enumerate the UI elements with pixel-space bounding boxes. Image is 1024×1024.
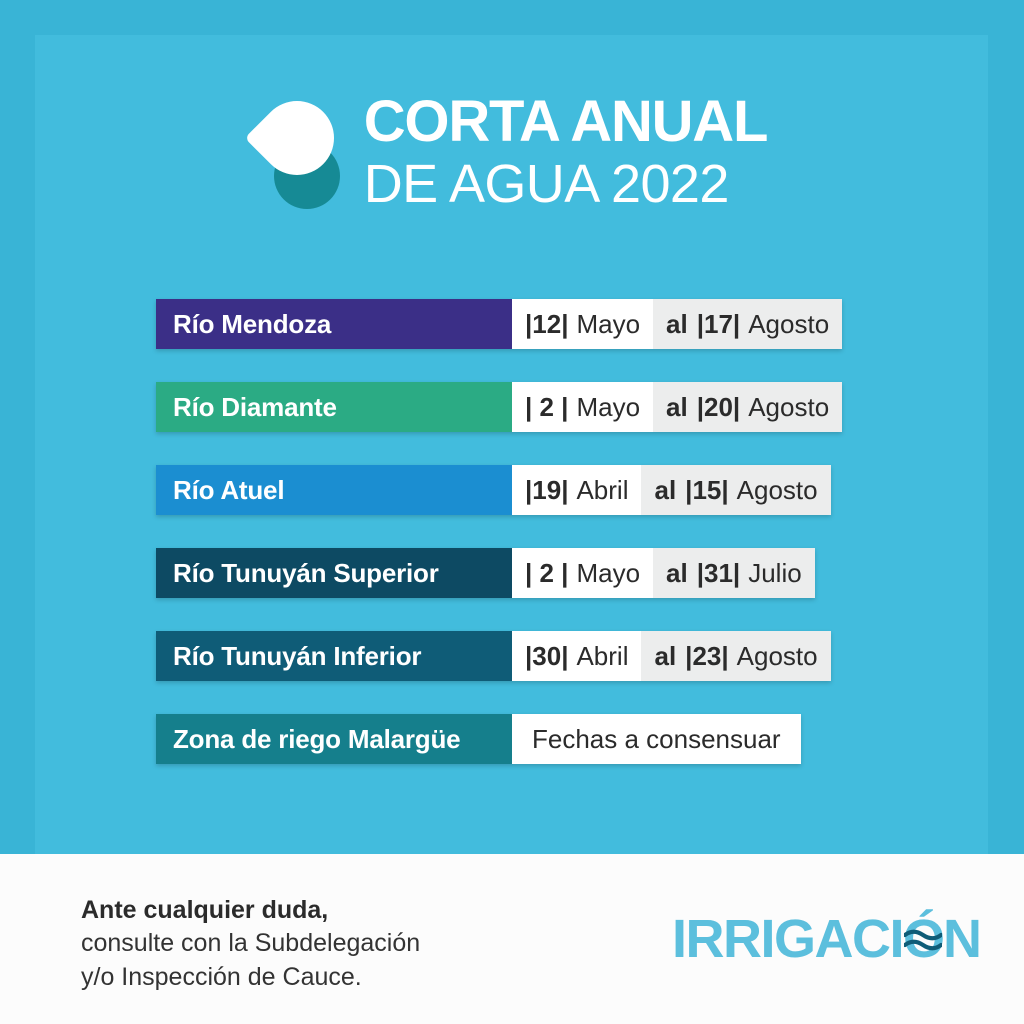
date-note-segment: Fechas a consensuar	[512, 714, 801, 764]
date-start-segment: |12| Mayo	[512, 299, 653, 349]
range-connector: al	[666, 558, 688, 589]
date-start-segment: |19| Abril	[512, 465, 641, 515]
date-end-segment: al |15| Agosto	[641, 465, 830, 515]
date-range: | 2 | Mayo al |20| Agosto	[512, 382, 842, 432]
start-month: Mayo	[576, 309, 640, 340]
logo-accent-letter-wrap: Ó	[903, 912, 943, 966]
poster-card: CORTA ANUAL DE AGUA 2022 Río Mendoza |12…	[35, 35, 988, 854]
footer: Ante cualquier duda, consulte con la Sub…	[0, 854, 1024, 1024]
table-row: Río Atuel |19| Abril al |15| Agosto	[156, 465, 916, 515]
logo-accent-letter: Ó	[903, 909, 944, 969]
water-droplet-icon	[256, 95, 342, 213]
title-line-primary: CORTA ANUAL	[364, 93, 767, 151]
logo-text-part2: N	[943, 912, 981, 966]
river-name-bar: Río Tunuyán Superior	[156, 548, 512, 598]
end-day: |15|	[685, 475, 728, 506]
date-range: |12| Mayo al |17| Agosto	[512, 299, 842, 349]
date-end-segment: al |31| Julio	[653, 548, 815, 598]
river-name-label: Zona de riego Malargüe	[173, 724, 460, 755]
river-name-label: Río Tunuyán Inferior	[173, 641, 421, 672]
end-month: Julio	[748, 558, 801, 589]
river-schedule-table: Río Mendoza |12| Mayo al |17| Agosto	[156, 299, 916, 764]
range-connector: al	[666, 309, 688, 340]
footer-note-line1: Ante cualquier duda,	[81, 894, 420, 927]
date-start-segment: | 2 | Mayo	[512, 548, 653, 598]
title-line-secondary: DE AGUA 2022	[364, 157, 767, 211]
river-name-bar: Río Diamante	[156, 382, 512, 432]
river-name-label: Río Mendoza	[173, 309, 331, 340]
end-day: |23|	[685, 641, 728, 672]
date-start-segment: |30| Abril	[512, 631, 641, 681]
table-row: Río Diamante | 2 | Mayo al |20| Agosto	[156, 382, 916, 432]
start-day: |19|	[525, 475, 568, 506]
header: CORTA ANUAL DE AGUA 2022	[35, 93, 988, 215]
footer-note: Ante cualquier duda, consulte con la Sub…	[81, 894, 420, 994]
river-name-label: Río Atuel	[173, 475, 284, 506]
end-month: Agosto	[748, 392, 829, 423]
start-day: |12|	[525, 309, 568, 340]
river-name-bar: Zona de riego Malargüe	[156, 714, 512, 764]
date-range: |19| Abril al |15| Agosto	[512, 465, 831, 515]
table-row: Río Mendoza |12| Mayo al |17| Agosto	[156, 299, 916, 349]
date-end-segment: al |17| Agosto	[653, 299, 842, 349]
end-month: Agosto	[748, 309, 829, 340]
end-day: |20|	[697, 392, 740, 423]
end-day: |17|	[697, 309, 740, 340]
start-month: Mayo	[576, 558, 640, 589]
river-name-bar: Río Mendoza	[156, 299, 512, 349]
table-row: Zona de riego Malargüe Fechas a consensu…	[156, 714, 916, 764]
river-name-bar: Río Atuel	[156, 465, 512, 515]
table-row: Río Tunuyán Superior | 2 | Mayo al |31| …	[156, 548, 916, 598]
end-day: |31|	[697, 558, 740, 589]
end-month: Agosto	[737, 475, 818, 506]
date-start-segment: | 2 | Mayo	[512, 382, 653, 432]
date-end-segment: al |20| Agosto	[653, 382, 842, 432]
date-range: |30| Abril al |23| Agosto	[512, 631, 831, 681]
start-day: |30|	[525, 641, 568, 672]
start-month: Abril	[576, 641, 628, 672]
poster: CORTA ANUAL DE AGUA 2022 Río Mendoza |12…	[0, 0, 1024, 1024]
river-name-bar: Río Tunuyán Inferior	[156, 631, 512, 681]
start-day: | 2 |	[525, 392, 568, 423]
table-row: Río Tunuyán Inferior |30| Abril al |23| …	[156, 631, 916, 681]
river-name-label: Río Tunuyán Superior	[173, 558, 439, 589]
range-connector: al	[654, 641, 676, 672]
logo-text-part1: IRRIGACI	[672, 912, 903, 966]
date-range: | 2 | Mayo al |31| Julio	[512, 548, 815, 598]
page-title: CORTA ANUAL DE AGUA 2022	[364, 93, 767, 215]
footer-note-line2: consulte con la Subdelegación	[81, 927, 420, 960]
date-end-segment: al |23| Agosto	[641, 631, 830, 681]
irrigacion-logo: IRRIGACI Ó N	[672, 908, 981, 970]
footer-note-line3: y/o Inspección de Cauce.	[81, 961, 420, 994]
start-day: | 2 |	[525, 558, 568, 589]
start-month: Abril	[576, 475, 628, 506]
date-range: Fechas a consensuar	[512, 714, 801, 764]
range-connector: al	[654, 475, 676, 506]
end-month: Agosto	[737, 641, 818, 672]
river-name-label: Río Diamante	[173, 392, 337, 423]
range-connector: al	[666, 392, 688, 423]
logo-wordmark: IRRIGACI Ó N	[672, 912, 981, 966]
start-month: Mayo	[576, 392, 640, 423]
